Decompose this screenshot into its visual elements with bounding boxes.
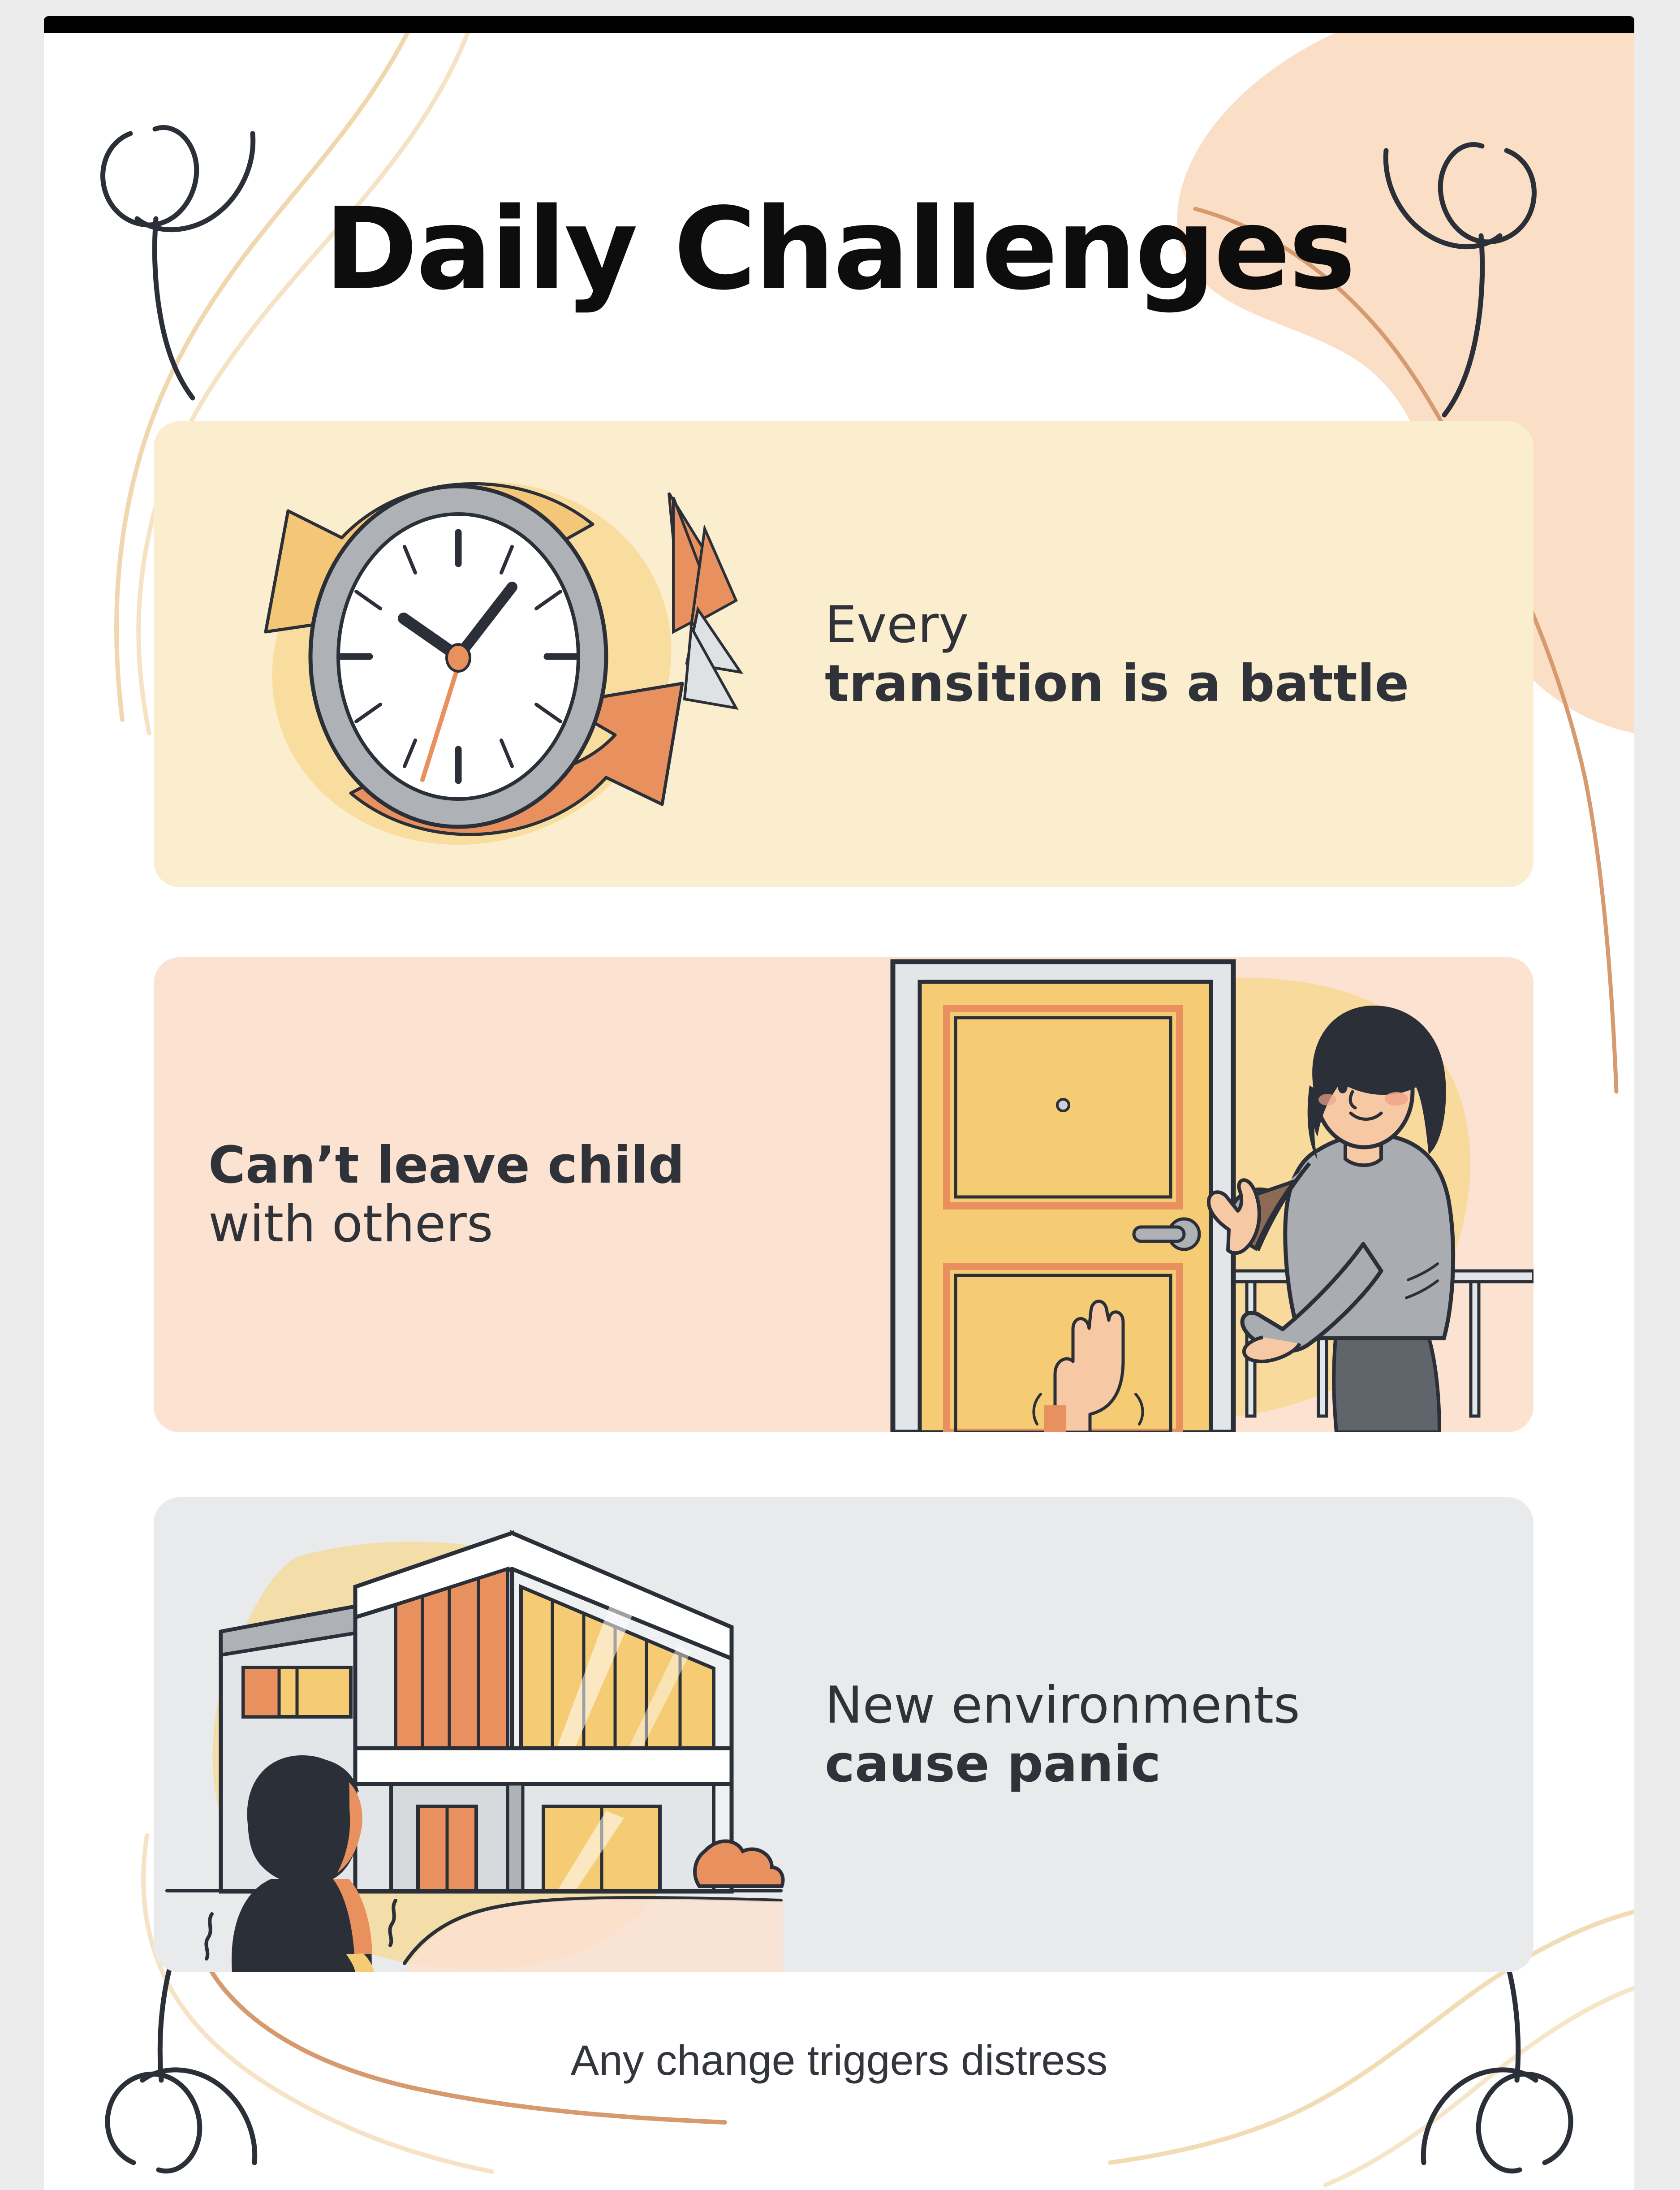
card-new-environments[interactable]: New environments cause panic (154, 1497, 1534, 1972)
building-child-icon (154, 1497, 790, 1972)
door-parent-child-icon (888, 957, 1534, 1432)
card-new-environments-text-regular: New environments (825, 1676, 1300, 1735)
ribbon-line-cream-bottomright-b (1325, 1988, 1634, 2185)
clock-rotate-icon (154, 421, 790, 887)
infographic-poster: Daily Challenges (44, 16, 1634, 2190)
card-separation-text-bold: Can’t leave child (208, 1136, 685, 1195)
card-transition-text-bold: transition is a battle (825, 654, 1409, 713)
top-black-bar (44, 16, 1634, 33)
card-transition[interactable]: Every transition is a battle (154, 421, 1534, 887)
card-separation-text-regular: with others (208, 1194, 493, 1253)
card-new-environments-text: New environments cause panic (790, 1676, 1534, 1793)
page-title: Daily Challenges (44, 193, 1634, 306)
card-new-environments-text-bold: cause panic (825, 1734, 1161, 1793)
card-transition-text-regular: Every (825, 595, 969, 654)
card-transition-text: Every transition is a battle (790, 596, 1534, 713)
footer-note: Any change triggers distress (44, 2036, 1634, 2085)
card-separation-text: Can’t leave child with others (154, 1136, 888, 1253)
card-separation[interactable]: Can’t leave child with others (154, 957, 1534, 1432)
